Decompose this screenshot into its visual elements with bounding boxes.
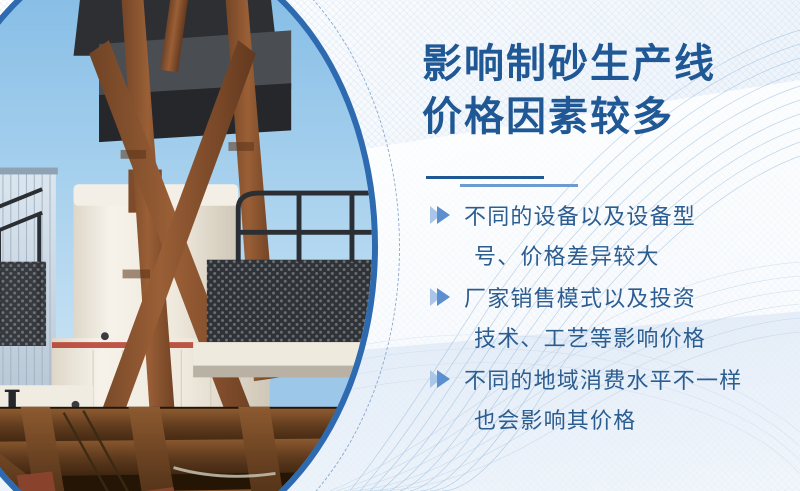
list-item: 不同的地域消费水平不一样 也会影响其价格 bbox=[422, 362, 800, 442]
promo-banner: L bbox=[0, 0, 800, 491]
svg-text:L: L bbox=[3, 383, 31, 429]
list-item-line2: 号、价格差异较大 bbox=[422, 238, 800, 278]
machine-photo: L bbox=[0, 0, 372, 491]
double-chevron-right-icon bbox=[428, 285, 454, 309]
text-panel: 影响制砂生产线 价格因素较多 不同的设备以及设备型 号、价格差异较大 bbox=[414, 0, 800, 491]
page-title: 影响制砂生产线 价格因素较多 bbox=[422, 38, 798, 144]
list-item: 不同的设备以及设备型 号、价格差异较大 bbox=[422, 198, 800, 278]
divider-dark bbox=[426, 176, 544, 179]
double-chevron-right-icon bbox=[428, 203, 454, 227]
list-item-line2: 也会影响其价格 bbox=[422, 402, 800, 442]
bullet-list: 不同的设备以及设备型 号、价格差异较大 厂家销售模式以及投资 技术、工艺等影响价… bbox=[422, 198, 800, 444]
photo-border-ring: L bbox=[0, 0, 378, 491]
machine-photo-circle: L bbox=[0, 0, 378, 491]
list-item-line2: 技术、工艺等影响价格 bbox=[422, 320, 800, 360]
list-item-line1: 不同的设备以及设备型 bbox=[422, 198, 800, 238]
list-item-line1: 厂家销售模式以及投资 bbox=[422, 280, 800, 320]
double-chevron-right-icon bbox=[428, 367, 454, 391]
dashed-accent-ring bbox=[0, 0, 400, 491]
divider-light bbox=[460, 184, 578, 187]
list-item-line1: 不同的地域消费水平不一样 bbox=[422, 362, 800, 402]
list-item: 厂家销售模式以及投资 技术、工艺等影响价格 bbox=[422, 280, 800, 360]
